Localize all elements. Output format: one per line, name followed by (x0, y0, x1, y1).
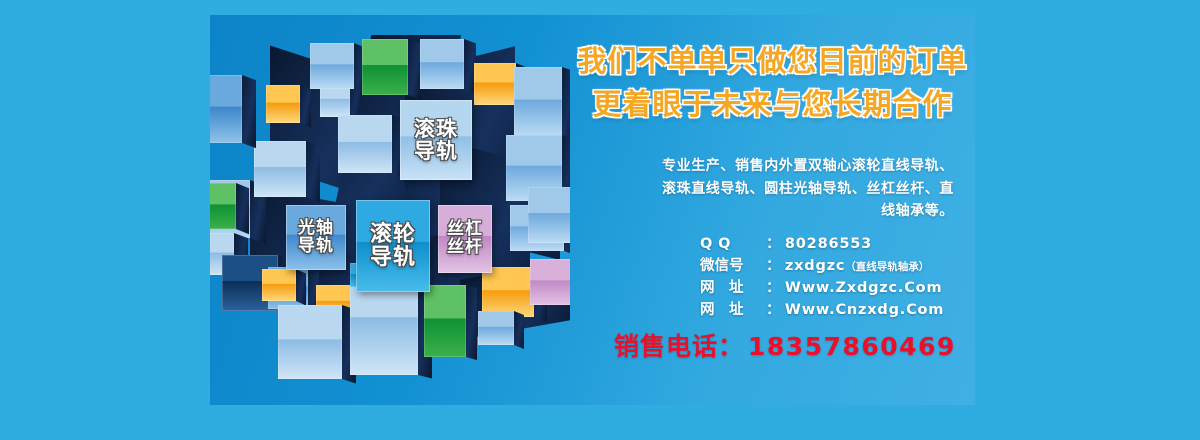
decorative-cube (528, 187, 570, 243)
product-label-line2: 丝杆 (447, 239, 483, 257)
decorative-cube (338, 115, 392, 173)
wechat-note: （直线导轨轴承） (845, 260, 929, 276)
qq-label: Q Q (700, 233, 766, 255)
product-label-gunzhu-daogui: 滚珠 导轨 (400, 100, 472, 180)
decorative-cube (254, 141, 306, 197)
product-label-line1: 滚珠 (414, 118, 458, 140)
product-label-guangzhou-daogui: 光轴 导轨 (286, 205, 346, 270)
contact-block: Q Q ： 80286553 微信号 ： zxdgzc （直线导轨轴承） 网 址… (700, 233, 970, 321)
sales-phone-number[interactable]: 18357860469 (748, 332, 956, 361)
decorative-cube (420, 39, 464, 89)
description-line-3: 线轴承等。 (594, 200, 954, 223)
decorative-cube (266, 85, 300, 123)
decorative-cube (474, 63, 516, 105)
decorative-cube (278, 305, 342, 379)
description-line-1: 专业生产、销售内外置双轴心滚轮直线导轨、 (594, 155, 954, 178)
contact-row-wechat: 微信号 ： zxdgzc （直线导轨轴承） (700, 255, 970, 277)
decorative-cube (478, 311, 514, 345)
contact-row-qq: Q Q ： 80286553 (700, 233, 970, 255)
wechat-value[interactable]: zxdgzc (785, 255, 845, 277)
contact-row-website-2: 网 址 ： Www.Cnzxdg.Com (700, 299, 970, 321)
website-2-label: 网 址 (700, 299, 766, 321)
description-line-2: 滚珠直线导轨、圆柱光轴导轨、丝杠丝杆、直 (594, 178, 954, 201)
decorative-cube (424, 285, 466, 357)
headline-line-2: 更着眼于未来与您长期合作 (570, 83, 975, 126)
qq-colon: ： (766, 233, 785, 255)
decorative-cube (310, 43, 354, 89)
description-text: 专业生产、销售内外置双轴心滚轮直线导轨、 滚珠直线导轨、圆柱光轴导轨、丝杠丝杆、… (594, 155, 954, 223)
headline-line-1: 我们不单单只做您目前的订单 (570, 40, 975, 83)
exploding-cubes-illustration: 滚珠 导轨 光轴 导轨 滚轮 导轨 丝杠 丝杆 (210, 15, 570, 405)
product-label-line1: 滚轮 (370, 223, 416, 246)
sales-phone-label: 销售电话： (614, 327, 744, 363)
decorative-cube (262, 269, 296, 301)
website-1-value[interactable]: Www.Zxdgzc.Com (785, 277, 942, 299)
product-label-line2: 导轨 (298, 238, 334, 256)
decorative-cube (210, 75, 242, 143)
wechat-label: 微信号 (700, 255, 766, 277)
product-label-gunlun-daogui: 滚轮 导轨 (356, 200, 430, 292)
decorative-cube (210, 183, 236, 229)
decorative-cube (362, 39, 408, 95)
product-label-line1: 光轴 (298, 220, 334, 238)
sales-phone: 销售电话： 18357860469 (614, 327, 974, 363)
website-2-colon: ： (766, 299, 785, 321)
decorative-cube (530, 259, 570, 305)
banner-panel: 滚珠 导轨 光轴 导轨 滚轮 导轨 丝杠 丝杆 我们不单单只做您目前的订单 更着… (210, 15, 975, 405)
banner-text-column: 我们不单单只做您目前的订单 更着眼于未来与您长期合作 专业生产、销售内外置双轴心… (570, 15, 975, 405)
website-1-colon: ： (766, 277, 785, 299)
wechat-colon: ： (766, 255, 785, 277)
website-1-label: 网 址 (700, 277, 766, 299)
promo-banner: 滚珠 导轨 光轴 导轨 滚轮 导轨 丝杠 丝杆 我们不单单只做您目前的订单 更着… (0, 0, 1200, 440)
product-label-sigang-sigan: 丝杠 丝杆 (438, 205, 492, 273)
decorative-cube (482, 267, 534, 317)
contact-row-website-1: 网 址 ： Www.Zxdgzc.Com (700, 277, 970, 299)
decorative-cube (514, 67, 562, 137)
product-label-line2: 导轨 (414, 140, 458, 162)
qq-value[interactable]: 80286553 (785, 233, 872, 255)
headline: 我们不单单只做您目前的订单 更着眼于未来与您长期合作 (570, 40, 975, 126)
website-2-value[interactable]: Www.Cnzxdg.Com (785, 299, 944, 321)
product-label-line2: 导轨 (370, 246, 416, 269)
